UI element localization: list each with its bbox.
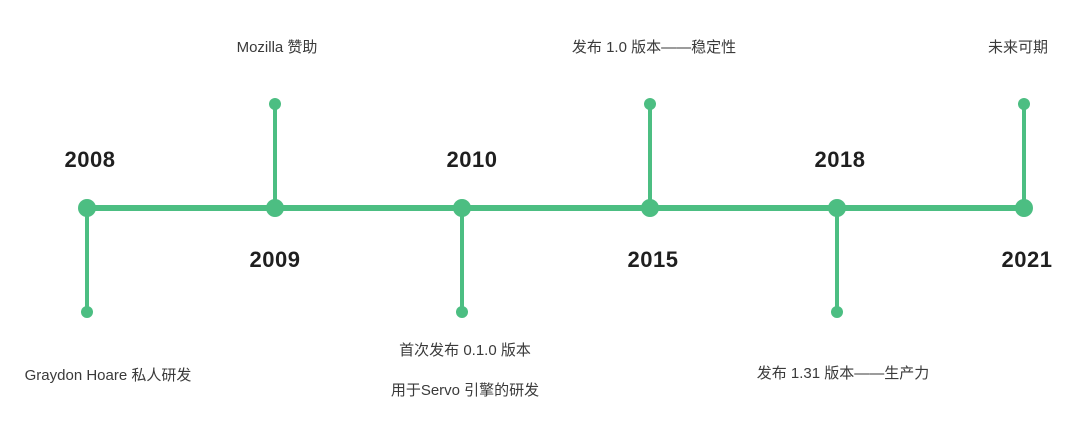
timeline-node-2015[interactable] — [641, 199, 659, 217]
event-label-2010-line1: 首次发布 0.1.0 版本 — [399, 340, 531, 362]
year-label-2010: 2010 — [447, 147, 498, 173]
event-label-2010-line2: 用于Servo 引擎的研发 — [391, 380, 539, 402]
timeline-branch-tip-dot — [269, 98, 281, 110]
timeline-axis — [80, 205, 1031, 211]
timeline-node-2008[interactable] — [78, 199, 96, 217]
timeline-branch-stem — [273, 104, 277, 208]
event-label-2015: 发布 1.0 版本——稳定性 — [572, 37, 736, 59]
timeline-branch-stem — [85, 208, 89, 312]
timeline-branch-tip-dot — [456, 306, 468, 318]
year-label-2018: 2018 — [815, 147, 866, 173]
event-label-2008: Graydon Hoare 私人研发 — [25, 365, 192, 387]
year-label-2015: 2015 — [628, 247, 679, 273]
timeline-branch-stem — [648, 104, 652, 208]
timeline-branch-stem — [460, 208, 464, 312]
timeline-branch-tip-dot — [1018, 98, 1030, 110]
timeline-node-2009[interactable] — [266, 199, 284, 217]
timeline-branch-stem — [1022, 104, 1026, 208]
timeline-branch-tip-dot — [644, 98, 656, 110]
timeline-branch-tip-dot — [81, 306, 93, 318]
year-label-2021: 2021 — [1002, 247, 1053, 273]
event-label-2021: 未来可期 — [988, 37, 1048, 59]
year-label-2008: 2008 — [65, 147, 116, 173]
timeline-node-2010[interactable] — [453, 199, 471, 217]
timeline-branch-stem — [835, 208, 839, 312]
year-label-2009: 2009 — [250, 247, 301, 273]
timeline-node-2021[interactable] — [1015, 199, 1033, 217]
timeline-node-2018[interactable] — [828, 199, 846, 217]
event-label-2009: Mozilla 赞助 — [237, 37, 318, 59]
timeline-branch-tip-dot — [831, 306, 843, 318]
timeline-chart: 2008Graydon Hoare 私人研发2009Mozilla 赞助2010… — [0, 0, 1080, 422]
event-label-2018: 发布 1.31 版本——生产力 — [757, 363, 930, 385]
